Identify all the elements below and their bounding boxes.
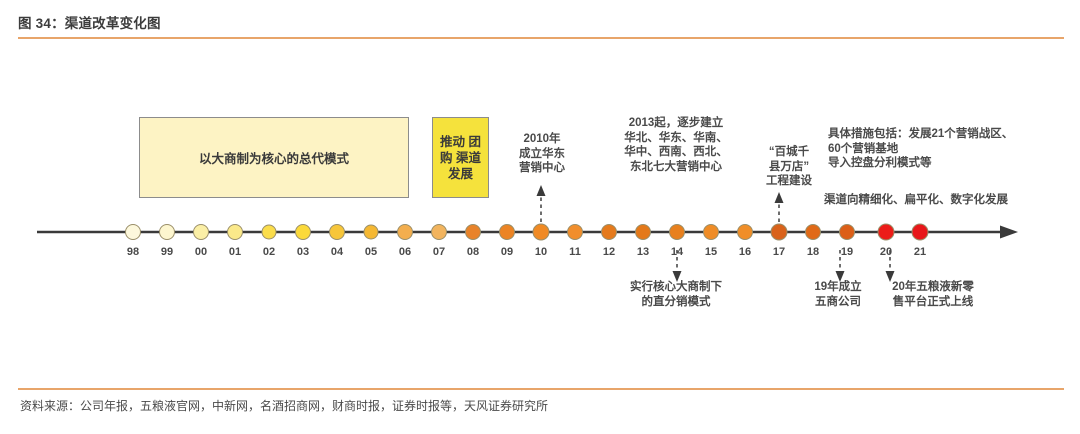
timeline-label-04: 04 <box>331 246 343 258</box>
timeline-node-10[interactable] <box>533 224 550 241</box>
timeline-label-17: 17 <box>773 246 785 258</box>
footer-divider <box>18 388 1064 390</box>
connector-up-2017 <box>775 192 784 222</box>
timeline-node-19[interactable] <box>839 224 855 240</box>
timeline-node-99[interactable] <box>159 224 175 240</box>
timeline-arrow-head <box>1000 226 1018 239</box>
timeline-node-06[interactable] <box>397 224 413 240</box>
timeline-label-06: 06 <box>399 246 411 258</box>
timeline-label-13: 13 <box>637 246 649 258</box>
timeline-node-04[interactable] <box>329 224 345 240</box>
timeline-node-03[interactable] <box>295 224 311 240</box>
timeline-label-09: 09 <box>501 246 513 258</box>
timeline-label-20: 20 <box>880 246 892 258</box>
timeline-label-12: 12 <box>603 246 615 258</box>
timeline-label-10: 10 <box>535 246 547 258</box>
annotation-baicheng-qianxian-wandian: “百城千 县万店” 工程建设 <box>752 145 826 189</box>
page-title: 图 34：渠道改革变化图 <box>18 12 161 32</box>
channel-reform-timeline-diagram: 以大商制为核心的总代模式 推动 团购 渠道 发展 2010年 成立华东 营销中心… <box>0 40 1080 388</box>
timeline-node-21[interactable] <box>912 224 929 241</box>
annotation-channel-development: 渠道向精细化、扁平化、数字化发展 <box>824 193 1050 208</box>
timeline-node-11[interactable] <box>567 224 583 240</box>
timeline-node-08[interactable] <box>465 224 481 240</box>
timeline-node-09[interactable] <box>499 224 515 240</box>
timeline-label-18: 18 <box>807 246 819 258</box>
timeline-node-20[interactable] <box>878 224 895 241</box>
timeline-label-98: 98 <box>127 246 139 258</box>
timeline-label-05: 05 <box>365 246 377 258</box>
title-divider <box>18 37 1064 39</box>
timeline-label-11: 11 <box>569 246 581 258</box>
timeline-node-17[interactable] <box>771 224 788 241</box>
annotation-2013-seven-marketing-centers: 2013起，逐步建立 华北、华东、华南、 华中、西南、西北、 东北七大营销中心 <box>610 116 742 174</box>
timeline-label-01: 01 <box>229 246 241 258</box>
annotation-wushang-company-2019: 19年成立 五商公司 <box>796 280 880 309</box>
source-note: 资料来源：公司年报，五粮液官网，中新网，名酒招商网，财商时报，证券时报等，天风证… <box>20 397 548 414</box>
timeline-node-13[interactable] <box>635 224 651 240</box>
connector-up-2010 <box>537 185 546 222</box>
timeline-node-14[interactable] <box>669 224 685 240</box>
annotation-direct-distribution-model: 实行核心大商制下 的直分销模式 <box>612 280 740 309</box>
timeline-node-12[interactable] <box>601 224 617 240</box>
phase-box-general-agency: 以大商制为核心的总代模式 <box>139 117 409 198</box>
timeline-node-02[interactable] <box>262 225 277 240</box>
timeline-label-15: 15 <box>705 246 717 258</box>
timeline-label-14: 14 <box>671 246 683 258</box>
timeline-node-01[interactable] <box>227 224 243 240</box>
timeline-label-99: 99 <box>161 246 173 258</box>
timeline-axis-svg <box>0 40 1080 388</box>
annotation-2010-east-china-center: 2010年 成立华东 营销中心 <box>505 132 579 176</box>
timeline-label-03: 03 <box>297 246 309 258</box>
timeline-node-07[interactable] <box>431 224 447 240</box>
timeline-label-08: 08 <box>467 246 479 258</box>
annotation-new-retail-platform-2020: 20年五粮液新零 售平台正式上线 <box>880 280 986 309</box>
timeline-node-16[interactable] <box>737 224 753 240</box>
phase-box-group-buy: 推动 团购 渠道 发展 <box>432 117 489 198</box>
annotation-concrete-measures: 具体措施包括：发展21个营销战区、 60个营销基地 导入控盘分利模式等 <box>828 127 1076 171</box>
timeline-node-98[interactable] <box>125 224 141 240</box>
timeline-label-16: 16 <box>739 246 751 258</box>
timeline-label-00: 00 <box>195 246 207 258</box>
timeline-label-19: 19 <box>841 246 853 258</box>
timeline-label-21: 21 <box>914 246 926 258</box>
timeline-label-02: 02 <box>263 246 275 258</box>
timeline-node-15[interactable] <box>703 224 719 240</box>
timeline-node-05[interactable] <box>364 225 379 240</box>
timeline-node-18[interactable] <box>805 224 821 240</box>
timeline-node-00[interactable] <box>193 224 209 240</box>
timeline-label-07: 07 <box>433 246 445 258</box>
